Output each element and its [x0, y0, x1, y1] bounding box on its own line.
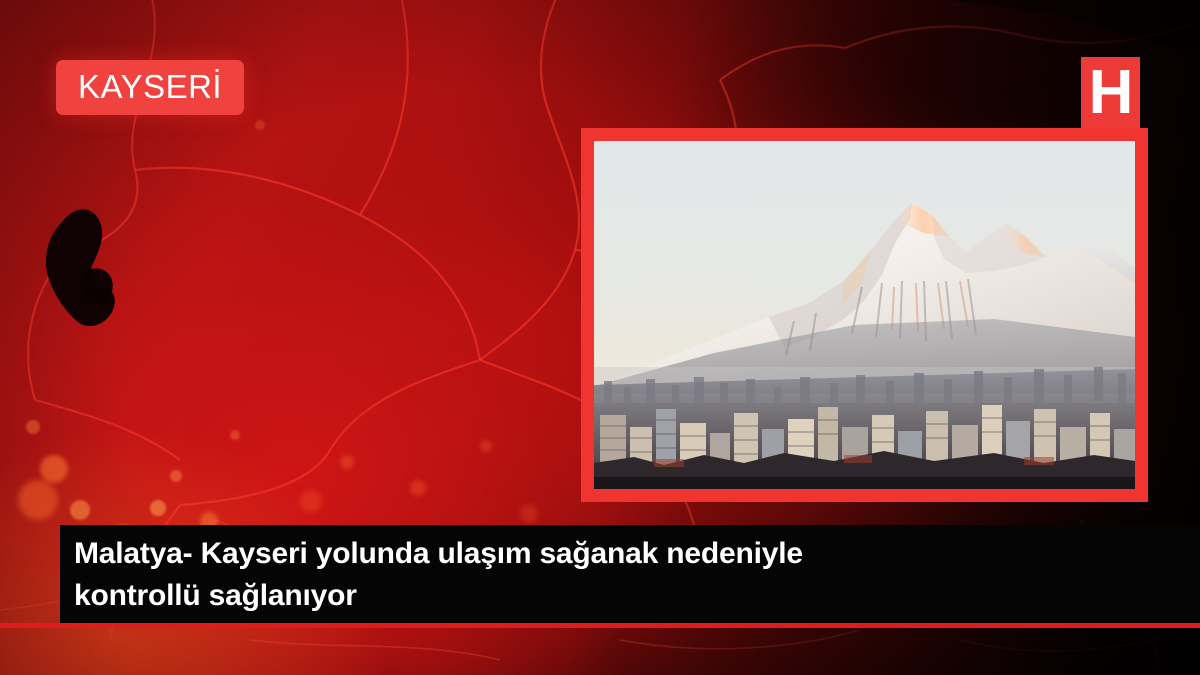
news-card: KAYSERİ H: [0, 0, 1200, 675]
headline-bar: Malatya- Kayseri yolunda ulaşım sağanak …: [60, 525, 1200, 625]
city-badge: KAYSERİ: [56, 60, 244, 115]
photo-frame: [581, 128, 1148, 502]
brand-h-logo-icon[interactable]: H: [1081, 57, 1140, 131]
headline-text: Malatya- Kayseri yolunda ulaşım sağanak …: [74, 533, 1200, 617]
news-photo: [594, 141, 1135, 489]
city-badge-label: KAYSERİ: [78, 68, 222, 105]
bottom-accent-rule: [0, 623, 1200, 628]
brand-logo-letter: H: [1089, 62, 1133, 124]
